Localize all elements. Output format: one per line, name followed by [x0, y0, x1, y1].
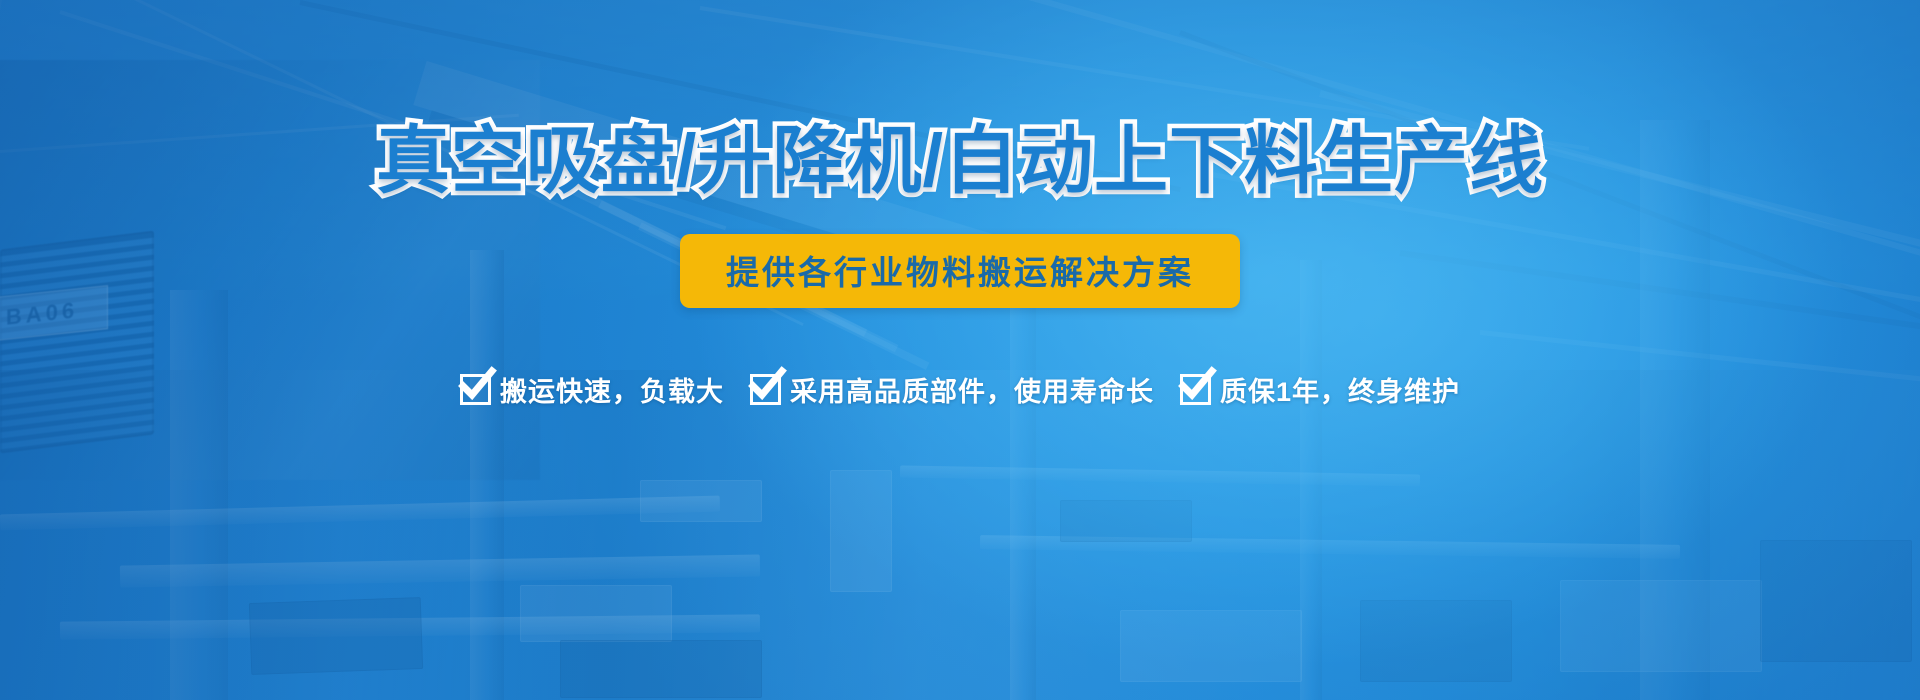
- subtitle-pill: 提供各行业物料搬运解决方案: [680, 234, 1240, 308]
- feature-label: 搬运快速，负载大: [500, 370, 724, 409]
- page-title: 真空吸盘/升降机/自动上下料生产线: [376, 124, 1544, 198]
- check-mark-icon: [460, 374, 491, 405]
- promo-banner: BA06 真空吸盘/升降机/自: [0, 0, 1920, 700]
- check-mark-icon: [750, 374, 781, 405]
- feature-item: 采用高品质部件，使用寿命长: [750, 370, 1154, 409]
- feature-item: 搬运快速，负载大: [460, 370, 724, 409]
- feature-label: 质保1年，终身维护: [1220, 370, 1460, 409]
- check-mark-icon: [1180, 374, 1211, 405]
- feature-label: 采用高品质部件，使用寿命长: [790, 370, 1154, 409]
- feature-item: 质保1年，终身维护: [1180, 370, 1460, 409]
- banner-content: 真空吸盘/升降机/自动上下料生产线 提供各行业物料搬运解决方案 搬运快速，负载大…: [0, 0, 1920, 700]
- feature-list: 搬运快速，负载大 采用高品质部件，使用寿命长 质保1年，终身维护: [460, 370, 1460, 409]
